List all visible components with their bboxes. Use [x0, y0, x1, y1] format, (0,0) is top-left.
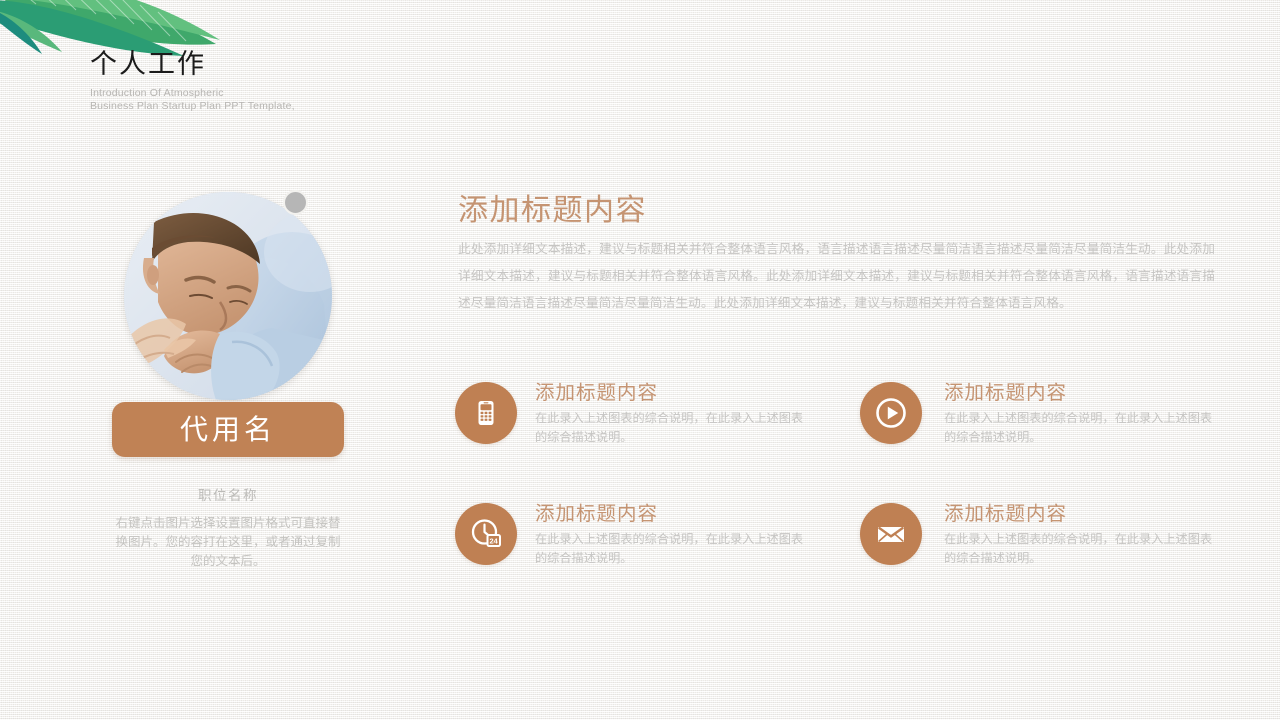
feature-item-clock[interactable]: 24 添加标题内容 在此录入上述图表的综合说明，在此录入上述图表的综合描述说明。 [455, 501, 860, 622]
feature-title: 添加标题内容 [944, 501, 1216, 527]
gray-dot-accent [283, 190, 308, 215]
profile-description: 右键点击图片选择设置图片格式可直接替换图片。您的容打在这里，或者通过复制您的文本… [112, 514, 344, 571]
profile-photo-wrap [124, 192, 332, 400]
profile-card: 代用名 职位名称 右键点击图片选择设置图片格式可直接替换图片。您的容打在这里，或… [112, 192, 344, 400]
feature-title: 添加标题内容 [535, 380, 807, 406]
feature-description: 在此录入上述图表的综合说明，在此录入上述图表的综合描述说明。 [535, 530, 807, 568]
profile-name-badge: 代用名 [112, 402, 344, 457]
slide-canvas: 个人工作 Introduction Of Atmospheric Busines… [0, 0, 1280, 720]
profile-name: 代用名 [180, 415, 276, 445]
feature-title: 添加标题内容 [535, 501, 807, 527]
svg-text:24: 24 [489, 536, 498, 545]
main-section-body: 此处添加详细文本描述，建议与标题相关并符合整体语言风格，语言描述语言描述尽量简洁… [458, 236, 1215, 317]
feature-text-block: 添加标题内容 在此录入上述图表的综合说明，在此录入上述图表的综合描述说明。 [944, 380, 1216, 447]
feature-description: 在此录入上述图表的综合说明，在此录入上述图表的综合描述说明。 [944, 409, 1216, 447]
avatar [124, 192, 332, 400]
feature-text-block: 添加标题内容 在此录入上述图表的综合说明，在此录入上述图表的综合描述说明。 [535, 501, 807, 568]
play-circle-icon [860, 382, 922, 444]
feature-grid: 添加标题内容 在此录入上述图表的综合说明，在此录入上述图表的综合描述说明。 添加… [455, 380, 1225, 622]
feature-title: 添加标题内容 [944, 380, 1216, 406]
slide-header: 个人工作 Introduction Of Atmospheric Busines… [90, 47, 510, 112]
page-subtitle-line-1: Introduction Of Atmospheric [90, 87, 510, 100]
page-title: 个人工作 [90, 47, 510, 81]
envelope-icon [860, 503, 922, 565]
feature-description: 在此录入上述图表的综合说明，在此录入上述图表的综合描述说明。 [944, 530, 1216, 568]
feature-item-mobile[interactable]: 添加标题内容 在此录入上述图表的综合说明，在此录入上述图表的综合描述说明。 [455, 380, 860, 501]
feature-description: 在此录入上述图表的综合说明，在此录入上述图表的综合描述说明。 [535, 409, 807, 447]
feature-item-play[interactable]: 添加标题内容 在此录入上述图表的综合说明，在此录入上述图表的综合描述说明。 [860, 380, 1225, 501]
page-subtitle: Introduction Of Atmospheric Business Pla… [90, 87, 510, 112]
profile-job-title: 职位名称 [112, 484, 344, 504]
mobile-phone-icon [455, 382, 517, 444]
feature-text-block: 添加标题内容 在此录入上述图表的综合说明，在此录入上述图表的综合描述说明。 [944, 501, 1216, 568]
feature-text-block: 添加标题内容 在此录入上述图表的综合说明，在此录入上述图表的综合描述说明。 [535, 380, 807, 447]
feature-item-mail[interactable]: 添加标题内容 在此录入上述图表的综合说明，在此录入上述图表的综合描述说明。 [860, 501, 1225, 622]
main-section-title: 添加标题内容 [458, 192, 647, 230]
clock-24h-icon: 24 [455, 503, 517, 565]
page-subtitle-line-2: Business Plan Startup Plan PPT Template, [90, 100, 510, 113]
